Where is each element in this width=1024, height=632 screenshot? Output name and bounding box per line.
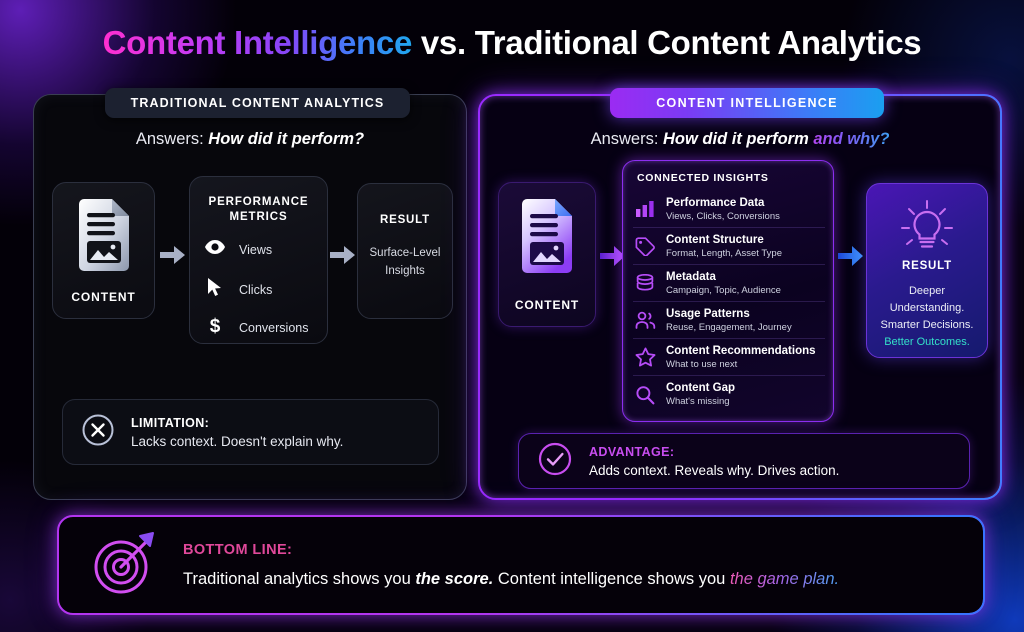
limitation-note: LIMITATION: Lacks context. Doesn't expla…	[62, 399, 439, 465]
tag-icon	[633, 237, 657, 256]
document-image-icon	[499, 199, 595, 273]
metrics-title-line2: METRICS	[229, 211, 287, 223]
right-result-title: RESULT	[867, 260, 987, 272]
insight-sub: Format, Length, Asset Type	[666, 247, 782, 260]
insight-heading: Metadata	[666, 270, 781, 284]
bottom-line-text: BOTTOM LINE: Traditional analytics shows…	[183, 542, 839, 589]
connected-insights-title: CONNECTED INSIGHTS	[637, 172, 769, 184]
metrics-title-line1: PERFORMANCE	[209, 196, 309, 208]
insight-sub: What to use next	[666, 358, 816, 371]
page-title: Content Intelligence vs. Traditional Con…	[0, 24, 1024, 62]
right-result-line1: Deeper Understanding.	[890, 285, 965, 314]
left-result-card: RESULT Surface-Level Insights	[357, 183, 453, 319]
advantage-body: Adds context. Reveals why. Drives action…	[589, 461, 839, 480]
bl-part1: Traditional analytics shows you	[183, 570, 415, 588]
insight-row-content-recommendations: Content Recommendations What to use next	[633, 339, 825, 376]
dollar-icon: $	[204, 315, 226, 340]
advantage-note: ADVANTAGE: Adds context. Reveals why. Dr…	[518, 433, 970, 489]
database-icon	[633, 274, 657, 293]
insight-text-content-recommendations: Content Recommendations What to use next	[666, 344, 816, 371]
insight-sub: Campaign, Topic, Audience	[666, 284, 781, 297]
metrics-title: PERFORMANCE METRICS	[190, 195, 327, 225]
metric-label-conversions: Conversions	[239, 321, 308, 335]
connected-insights-list: Performance Data Views, Clicks, Conversi…	[633, 191, 825, 413]
right-result-line3: Better Outcomes.	[884, 336, 970, 348]
connected-insights-card: CONNECTED INSIGHTS Performance Data View…	[622, 160, 834, 422]
insight-heading: Usage Patterns	[666, 307, 792, 321]
left-result-line1: Surface-Level	[370, 247, 441, 259]
insight-heading: Content Structure	[666, 233, 782, 247]
insight-text-content-gap: Content Gap What's missing	[666, 381, 735, 408]
bl-highlight: the game plan.	[730, 570, 839, 588]
arrow-content-to-metrics	[160, 245, 186, 270]
eye-icon	[204, 239, 226, 260]
right-answers-question: How did it perform	[663, 130, 809, 148]
insight-text-usage-patterns: Usage Patterns Reuse, Engagement, Journe…	[666, 307, 792, 334]
insight-heading: Performance Data	[666, 196, 780, 210]
limitation-body: Lacks context. Doesn't explain why.	[131, 432, 343, 451]
insight-row-usage-patterns: Usage Patterns Reuse, Engagement, Journe…	[633, 302, 825, 339]
advantage-text: ADVANTAGE: Adds context. Reveals why. Dr…	[589, 443, 839, 480]
insight-heading: Content Recommendations	[666, 344, 816, 358]
insight-text-content-structure: Content Structure Format, Length, Asset …	[666, 233, 782, 260]
lightbulb-icon	[867, 198, 987, 256]
target-dart-icon	[87, 527, 159, 604]
users-icon	[633, 311, 657, 330]
insight-sub: What's missing	[666, 395, 735, 408]
bottom-line-heading: BOTTOM LINE:	[183, 542, 839, 558]
right-content-card: CONTENT	[498, 182, 596, 327]
right-answers-highlight: and why?	[809, 130, 890, 148]
star-icon	[633, 347, 657, 367]
bl-part2: Content intelligence shows you	[493, 570, 730, 588]
arrow-insights-to-result	[838, 245, 864, 272]
bottom-line-body: Traditional analytics shows you the scor…	[183, 570, 839, 589]
right-result-card: RESULT Deeper Understanding. Smarter Dec…	[866, 183, 988, 358]
left-answers-question: How did it perform?	[208, 130, 364, 148]
metric-row-conversions: $ Conversions	[204, 315, 308, 340]
advantage-heading: ADVANTAGE:	[589, 443, 839, 461]
bar-chart-icon	[633, 200, 657, 218]
svg-text:$: $	[210, 316, 221, 335]
left-result-subtext: Surface-Level Insights	[364, 244, 446, 280]
infographic-canvas: Content Intelligence vs. Traditional Con…	[0, 0, 1024, 632]
insight-row-content-gap: Content Gap What's missing	[633, 376, 825, 413]
cursor-icon	[204, 277, 226, 302]
bl-bold: the score.	[415, 570, 493, 588]
insight-row-content-structure: Content Structure Format, Length, Asset …	[633, 228, 825, 265]
metric-row-clicks: Clicks	[204, 277, 272, 302]
title-accent: Content Intelligence	[103, 24, 412, 61]
insight-row-performance-data: Performance Data Views, Clicks, Conversi…	[633, 191, 825, 228]
traditional-panel-badge: TRADITIONAL CONTENT ANALYTICS	[105, 88, 410, 118]
check-circle-icon	[537, 441, 573, 482]
left-result-line2: Insights	[385, 265, 425, 277]
limitation-heading: LIMITATION:	[131, 414, 343, 432]
performance-metrics-card: PERFORMANCE METRICS Views Clicks	[189, 176, 328, 344]
left-content-label: CONTENT	[53, 290, 154, 304]
ci-panel-badge: CONTENT INTELLIGENCE	[610, 88, 884, 118]
right-content-label: CONTENT	[499, 298, 595, 312]
right-result-lines: Deeper Understanding. Smarter Decisions.…	[871, 283, 983, 351]
search-icon	[633, 385, 657, 405]
right-answers-prefix: Answers:	[591, 130, 663, 148]
left-answers-prefix: Answers:	[136, 130, 208, 148]
insight-sub: Reuse, Engagement, Journey	[666, 321, 792, 334]
title-plain: vs. Traditional Content Analytics	[412, 24, 921, 61]
document-image-icon	[53, 199, 154, 271]
insight-sub: Views, Clicks, Conversions	[666, 210, 780, 223]
left-content-card: CONTENT	[52, 182, 155, 319]
arrow-metrics-to-result	[330, 245, 356, 270]
right-answers-line: Answers: How did it perform and why?	[478, 130, 1002, 149]
limitation-text: LIMITATION: Lacks context. Doesn't expla…	[131, 414, 343, 451]
insight-text-performance-data: Performance Data Views, Clicks, Conversi…	[666, 196, 780, 223]
insight-row-metadata: Metadata Campaign, Topic, Audience	[633, 265, 825, 302]
metric-label-views: Views	[239, 243, 272, 257]
insight-text-metadata: Metadata Campaign, Topic, Audience	[666, 270, 781, 297]
right-result-line2: Smarter Decisions.	[881, 319, 974, 331]
left-answers-line: Answers: How did it perform?	[33, 130, 467, 149]
bottom-line-bar: BOTTOM LINE: Traditional analytics shows…	[57, 515, 985, 615]
metric-row-views: Views	[204, 239, 272, 260]
insight-heading: Content Gap	[666, 381, 735, 395]
x-circle-icon	[81, 413, 115, 452]
metric-label-clicks: Clicks	[239, 283, 272, 297]
left-result-title: RESULT	[358, 214, 452, 226]
